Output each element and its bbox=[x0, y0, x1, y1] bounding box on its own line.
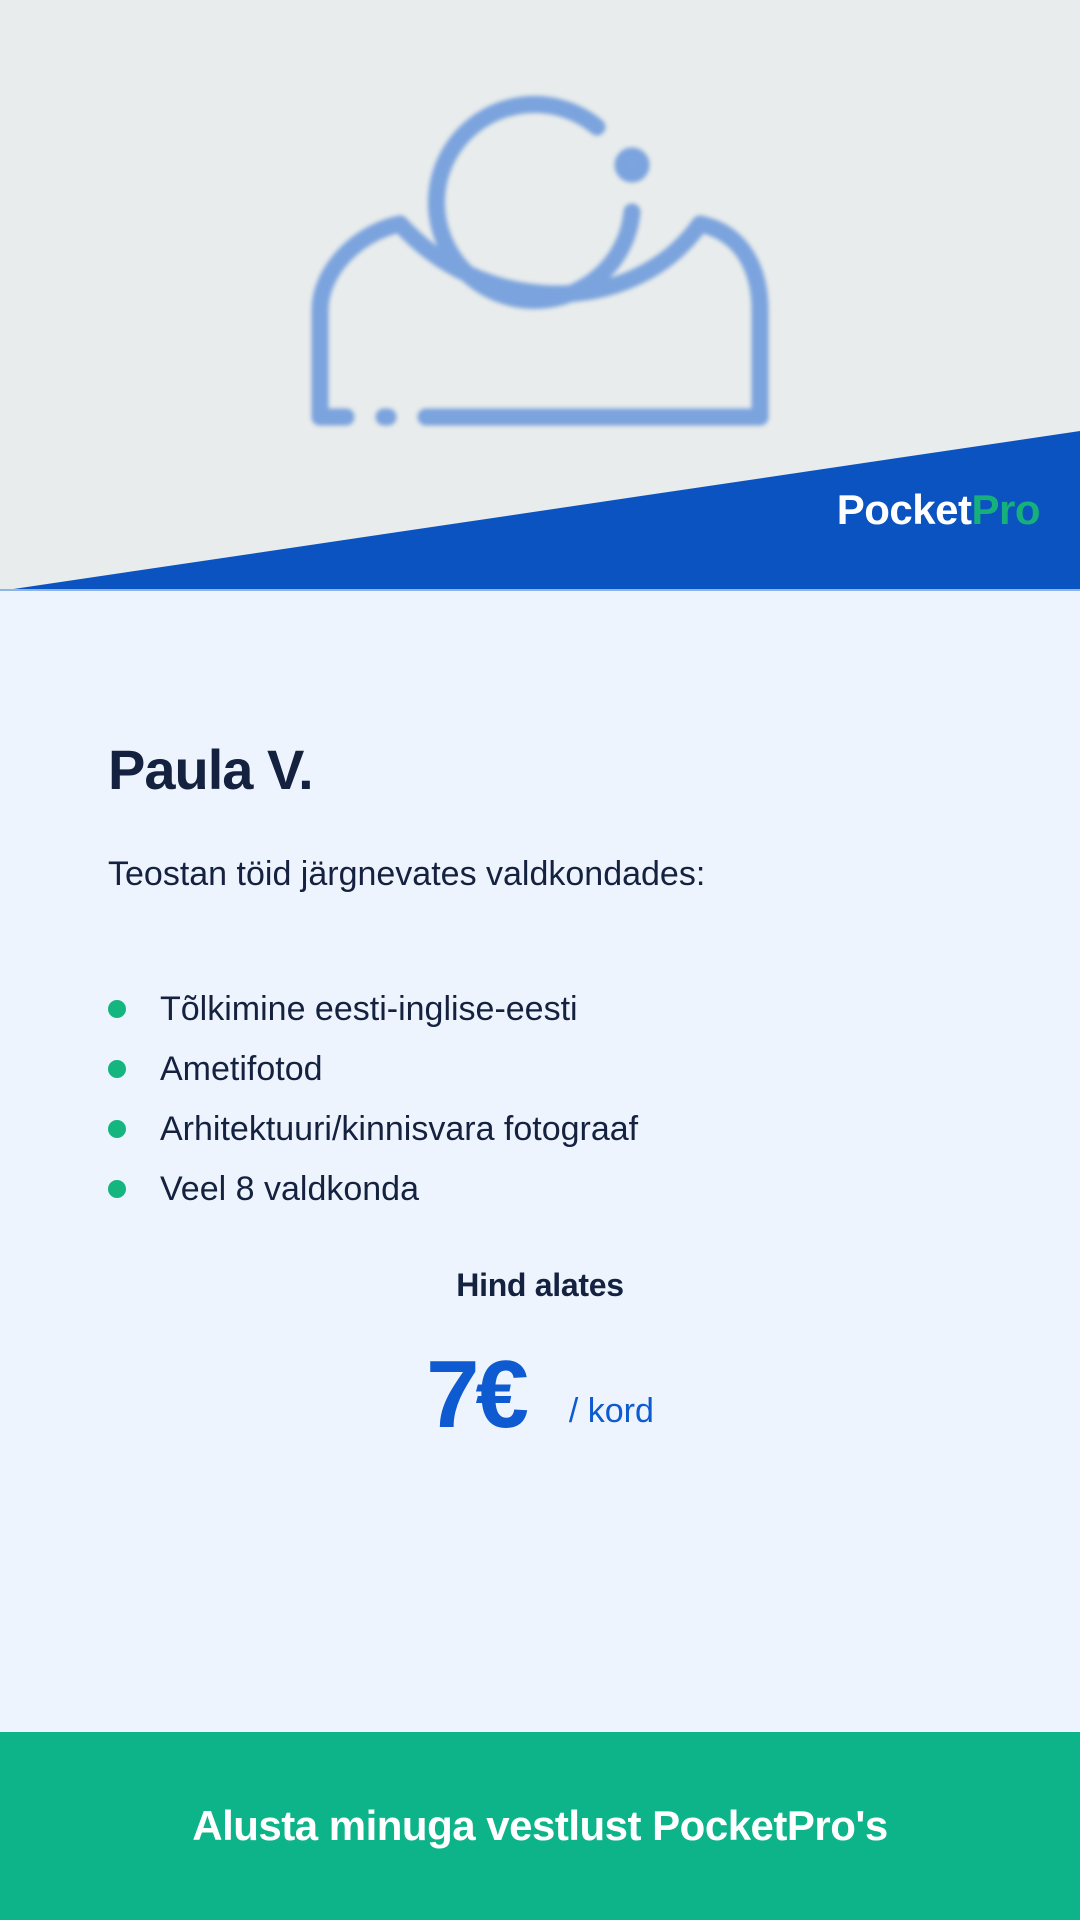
list-item: Ametifotod bbox=[108, 1039, 638, 1099]
profile-card: PocketPro Paula V. Teostan töid järgneva… bbox=[0, 0, 1080, 1920]
price-unit: / kord bbox=[569, 1394, 654, 1436]
bullet-dot-icon bbox=[108, 1120, 126, 1138]
start-chat-button[interactable]: Alusta minuga vestlust PocketPro's bbox=[0, 1732, 1080, 1920]
user-avatar-icon bbox=[260, 72, 820, 472]
logo-pocket-text: Pocket bbox=[837, 486, 972, 533]
skill-list: Tõlkimine eesti-inglise-eesti Ametifotod… bbox=[108, 979, 638, 1219]
bullet-dot-icon bbox=[108, 1180, 126, 1198]
list-item-label: Arhitektuuri/kinnisvara fotograaf bbox=[160, 1112, 638, 1146]
price-amount: 7€ bbox=[426, 1354, 525, 1436]
page-title: Paula V. bbox=[108, 742, 313, 798]
hero-section: PocketPro bbox=[0, 0, 1080, 591]
profile-details-section: Paula V. Teostan töid järgnevates valdko… bbox=[0, 591, 1080, 1732]
list-item: Tõlkimine eesti-inglise-eesti bbox=[108, 979, 638, 1039]
profile-intro-text: Teostan töid järgnevates valdkondades: bbox=[108, 857, 705, 891]
price-row: 7€ / kord bbox=[426, 1354, 654, 1436]
start-chat-button-label: Alusta minuga vestlust PocketPro's bbox=[192, 1805, 888, 1847]
pocketpro-logo: PocketPro bbox=[837, 489, 1040, 531]
list-item-label: Ametifotod bbox=[160, 1052, 323, 1086]
list-item-label: Tõlkimine eesti-inglise-eesti bbox=[160, 992, 578, 1026]
bullet-dot-icon bbox=[108, 1060, 126, 1078]
list-item: Arhitektuuri/kinnisvara fotograaf bbox=[108, 1099, 638, 1159]
list-item[interactable]: Veel 8 valdkonda bbox=[108, 1159, 638, 1219]
price-label: Hind alates bbox=[456, 1269, 623, 1301]
logo-pro-text: Pro bbox=[971, 486, 1040, 533]
bullet-dot-icon bbox=[108, 1000, 126, 1018]
list-item-label: Veel 8 valdkonda bbox=[160, 1172, 419, 1206]
